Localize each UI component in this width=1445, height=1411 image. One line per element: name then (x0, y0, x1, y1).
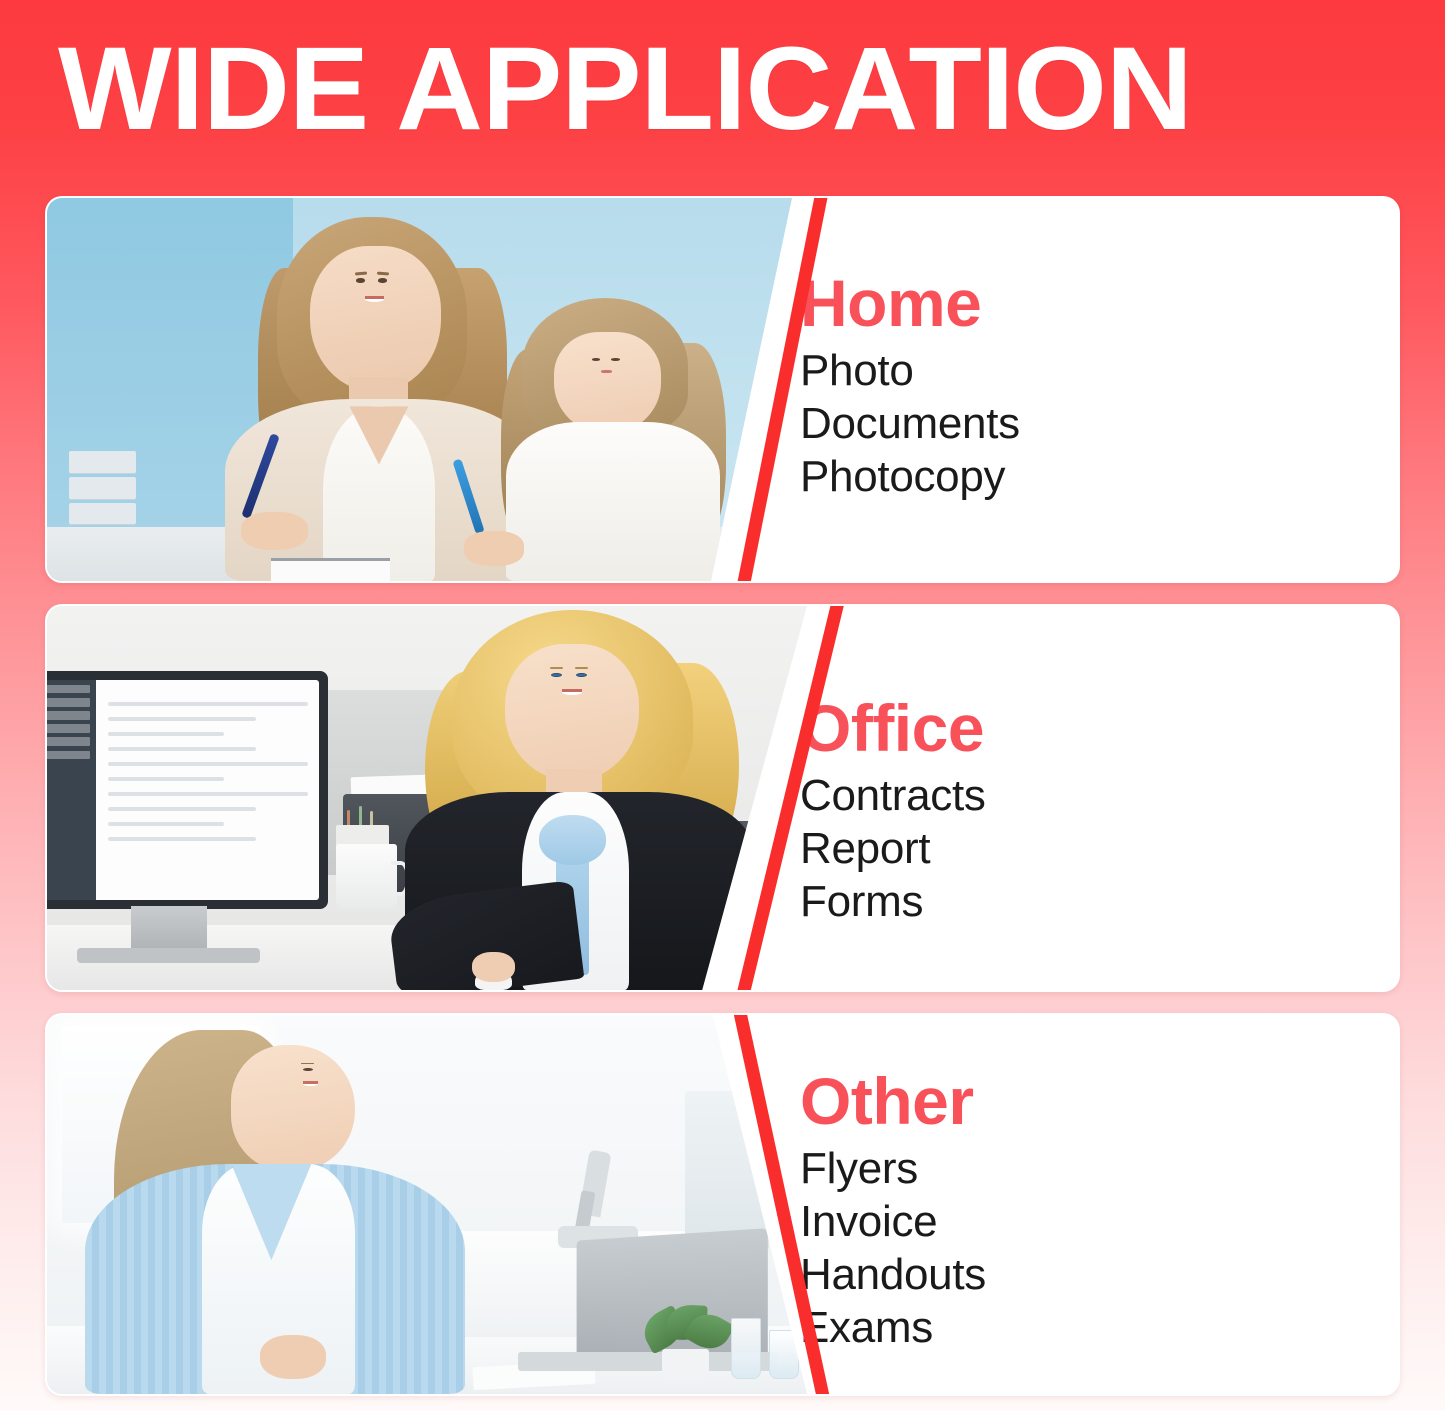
screen-text-lines (108, 702, 308, 852)
eyebrow-left (550, 667, 563, 669)
feature-list-office: Contracts Report Forms (800, 769, 986, 928)
monitor-base (77, 948, 259, 963)
bow-tie (539, 815, 606, 864)
feature-list-home: Photo Documents Photocopy (800, 344, 1020, 503)
photo-office (47, 606, 807, 990)
clasped-hands (260, 1335, 326, 1380)
hand-child (464, 531, 524, 565)
application-card-other: Other Flyers Invoice Handouts Exams (45, 1013, 1400, 1396)
card-heading-other: Other (800, 1066, 986, 1136)
scene-office-worker (47, 606, 807, 990)
eye-right (378, 278, 387, 282)
list-item: Photo (800, 344, 1020, 397)
eye-left (592, 358, 601, 361)
hand (472, 952, 515, 982)
hand-adult (241, 512, 308, 550)
mug-icon (336, 844, 397, 909)
scene-lab-worker (47, 1015, 807, 1394)
scene-home-tutoring (47, 198, 792, 581)
card-heading-home: Home (800, 268, 1020, 338)
eyebrow-left (355, 272, 367, 276)
face (231, 1045, 355, 1171)
mouth (562, 689, 582, 694)
mouth (601, 370, 612, 372)
list-item: Photocopy (800, 450, 1020, 503)
plant-pot (662, 1349, 709, 1379)
card-heading-office: Office (800, 693, 986, 763)
notepad (271, 558, 390, 581)
eye-left (356, 278, 365, 282)
monitor-screen (47, 680, 319, 900)
eye-left (551, 673, 562, 677)
mouth (365, 296, 383, 302)
list-item: Report (800, 822, 986, 875)
list-item: Contracts (800, 769, 986, 822)
list-item: Documents (800, 397, 1020, 450)
face (554, 332, 661, 434)
list-item: Invoice (800, 1195, 986, 1248)
photo-other (47, 1015, 807, 1394)
tank-top (506, 422, 721, 581)
wide-application-infographic: WIDE APPLICATION (0, 0, 1445, 1411)
eye-right (611, 358, 620, 361)
application-card-home: Home Photo Documents Photocopy (45, 196, 1400, 583)
face (505, 644, 639, 781)
office-worker-figure (412, 610, 746, 990)
eye (303, 1068, 313, 1071)
list-item: Flyers (800, 1142, 986, 1195)
face (310, 246, 441, 392)
book-stack-icon (69, 451, 136, 535)
plant-icon (640, 1303, 731, 1379)
feature-list-other: Flyers Invoice Handouts Exams (800, 1142, 986, 1354)
text-panel-home: Home Photo Documents Photocopy (838, 198, 1398, 581)
lab-worker-figure (93, 1023, 458, 1394)
test-tube-icon (769, 1330, 799, 1379)
list-item: Exams (800, 1301, 986, 1354)
eyebrow-right (377, 272, 389, 275)
eyebrow (301, 1063, 315, 1065)
screen-sidebar (47, 680, 96, 900)
application-card-office: Office Contracts Report Forms (45, 604, 1400, 992)
microscope-icon (549, 1151, 648, 1250)
monitor-icon (47, 671, 328, 909)
eye-right (576, 673, 587, 677)
list-item: Handouts (800, 1248, 986, 1301)
test-tube-icon (731, 1318, 761, 1379)
title-banner: WIDE APPLICATION (0, 0, 1445, 178)
list-item: Forms (800, 875, 986, 928)
page-title: WIDE APPLICATION (58, 30, 1192, 148)
mouth (303, 1081, 318, 1085)
monitor-stand (131, 906, 207, 952)
text-panel-other: Other Flyers Invoice Handouts Exams (838, 1015, 1398, 1394)
photo-home (47, 198, 792, 581)
text-panel-office: Office Contracts Report Forms (838, 606, 1398, 990)
eyebrow-right (575, 667, 588, 669)
